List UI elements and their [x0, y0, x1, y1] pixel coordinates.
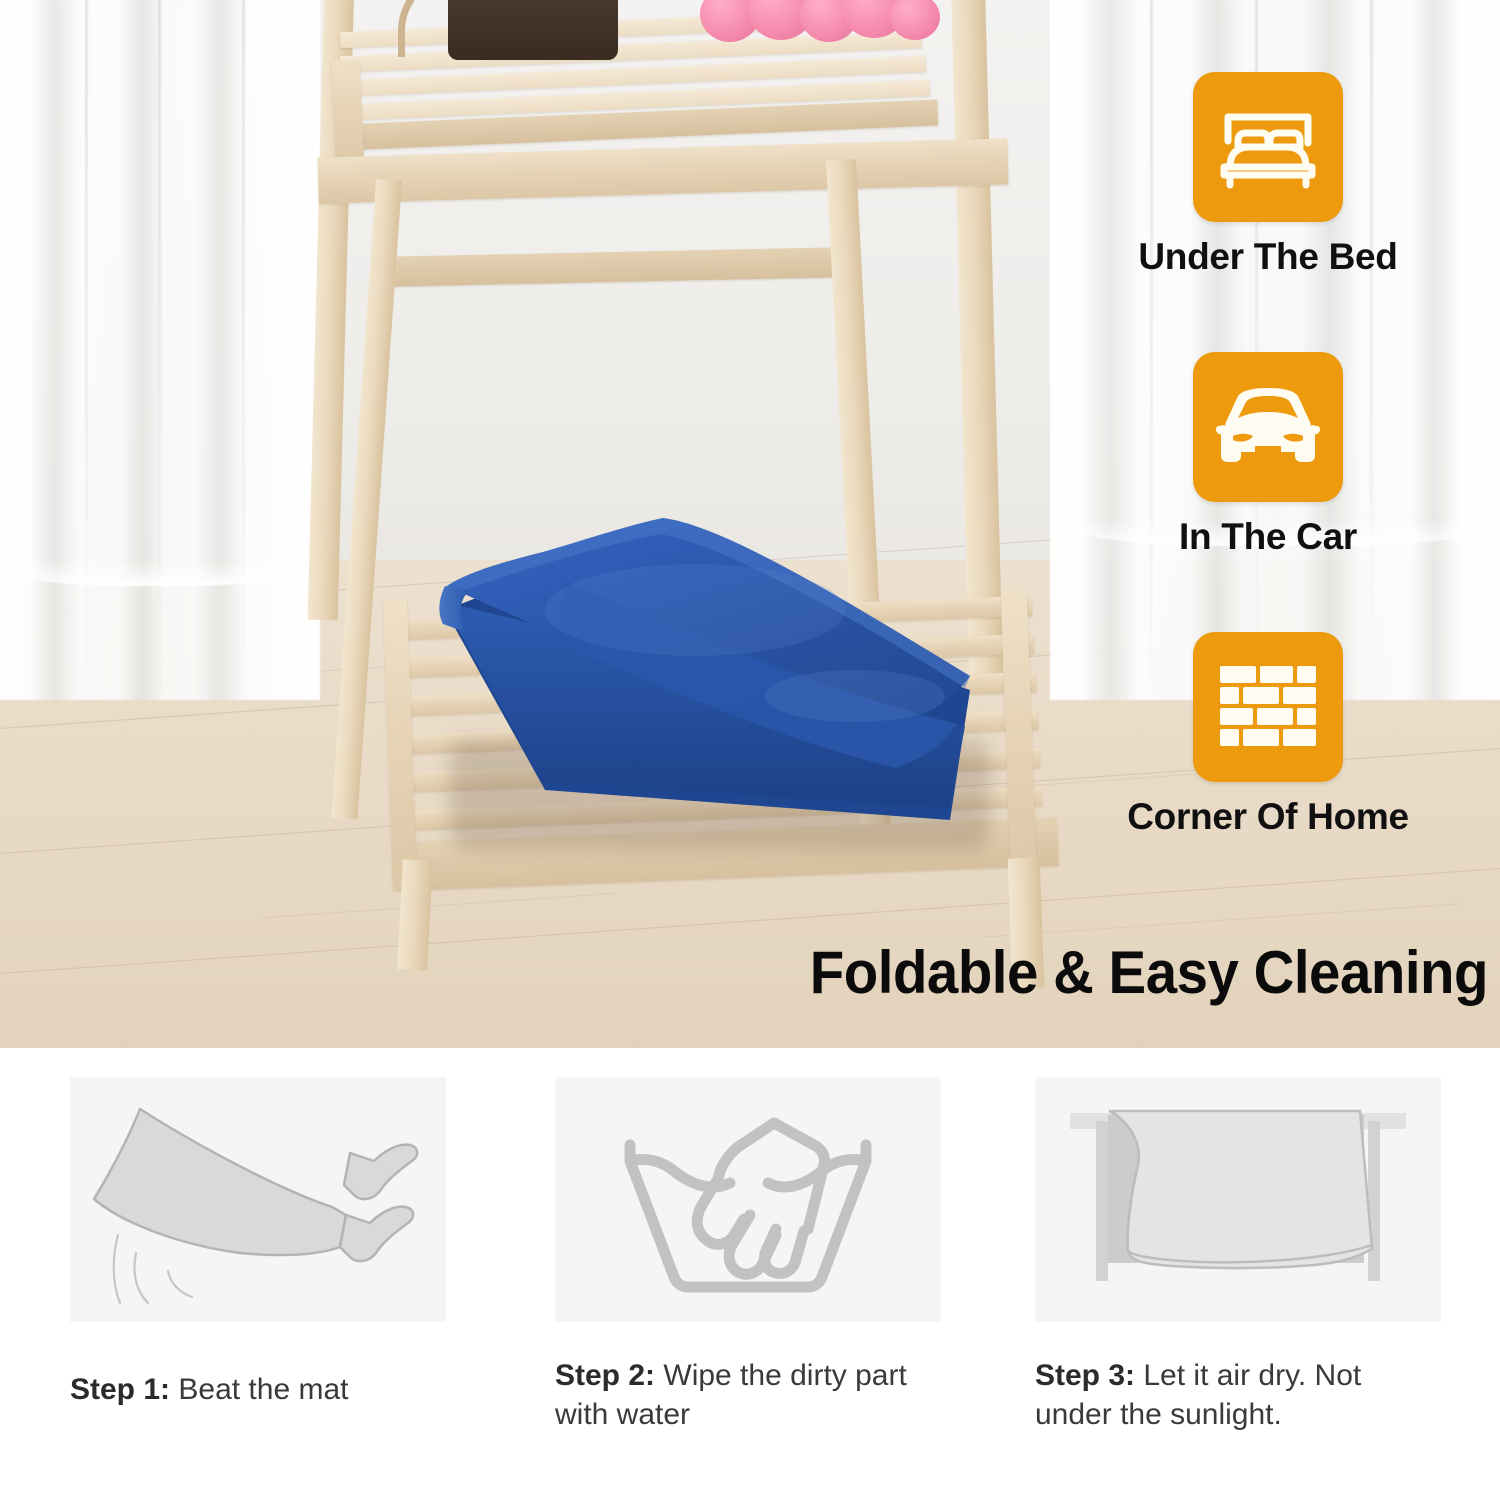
- cleaning-step-2: Step 2: Wipe the dirty part with water: [555, 1077, 941, 1434]
- product-photo: Foldable & Easy Cleaning Under The Bed: [0, 0, 1500, 1048]
- car-icon: [1193, 352, 1343, 502]
- step-illustration-panel: [1035, 1077, 1441, 1322]
- step-number: Step 1:: [70, 1373, 170, 1406]
- feature-under-the-bed: Under The Bed: [1103, 72, 1433, 278]
- bed-icon: [1193, 72, 1343, 222]
- brick-wall-icon: [1193, 632, 1343, 782]
- step-illustration-panel: [555, 1077, 941, 1322]
- step-number: Step 3:: [1035, 1359, 1135, 1392]
- feature-label: Under The Bed: [1103, 236, 1433, 278]
- step-caption: Step 2: Wipe the dirty part with water: [555, 1356, 941, 1434]
- hanging-mat-dry-icon: [1058, 1087, 1418, 1312]
- step-number: Step 2:: [555, 1359, 655, 1392]
- cleaning-step-1: Step 1: Beat the mat: [70, 1077, 446, 1409]
- feature-label: Corner Of Home: [1103, 796, 1433, 838]
- feature-label: In The Car: [1103, 516, 1433, 558]
- feature-in-the-car: In The Car: [1103, 352, 1433, 558]
- step-text: Beat the mat: [178, 1373, 348, 1406]
- step-caption: Step 3: Let it air dry. Not under the su…: [1035, 1356, 1441, 1434]
- cleaning-steps-section: Step 1: Beat the mat Step 2: Wipe the di…: [0, 1048, 1500, 1500]
- cleaning-step-3: Step 3: Let it air dry. Not under the su…: [1035, 1077, 1441, 1434]
- page-headline: Foldable & Easy Cleaning: [792, 938, 1488, 1007]
- shaking-mat-icon: [88, 1087, 428, 1312]
- curtain-left: [0, 0, 320, 700]
- step-caption: Step 1: Beat the mat: [70, 1370, 446, 1409]
- step-illustration-panel: [70, 1077, 446, 1322]
- feature-corner-of-home: Corner Of Home: [1103, 632, 1433, 838]
- hand-wash-icon: [598, 1087, 898, 1312]
